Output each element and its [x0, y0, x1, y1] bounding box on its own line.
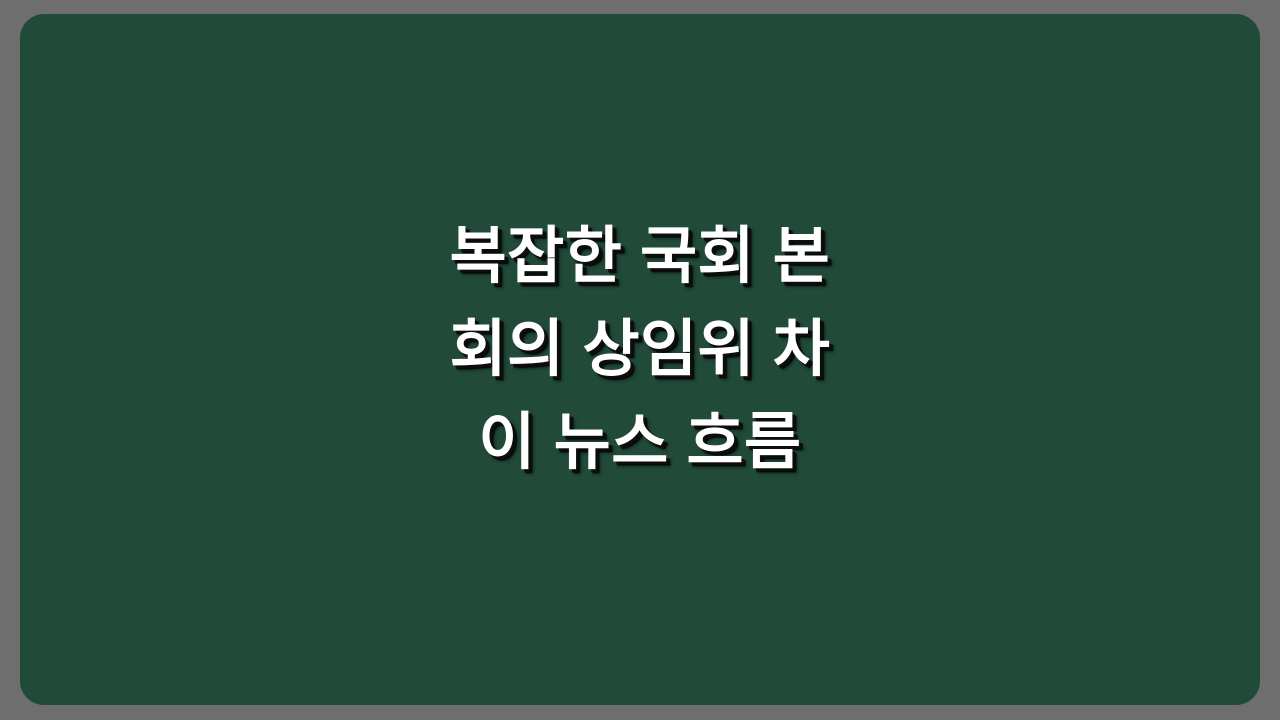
headline-line-3: 이 뉴스 흐름 — [80, 396, 1200, 489]
headline-block: 복잡한 국회 본 회의 상임위 차 이 뉴스 흐름 — [20, 210, 1260, 489]
title-card-board: 복잡한 국회 본 회의 상임위 차 이 뉴스 흐름 — [20, 14, 1260, 705]
title-card-frame: 복잡한 국회 본 회의 상임위 차 이 뉴스 흐름 — [0, 0, 1280, 720]
headline-line-2: 회의 상임위 차 — [80, 303, 1200, 396]
headline-line-1: 복잡한 국회 본 — [80, 210, 1200, 303]
